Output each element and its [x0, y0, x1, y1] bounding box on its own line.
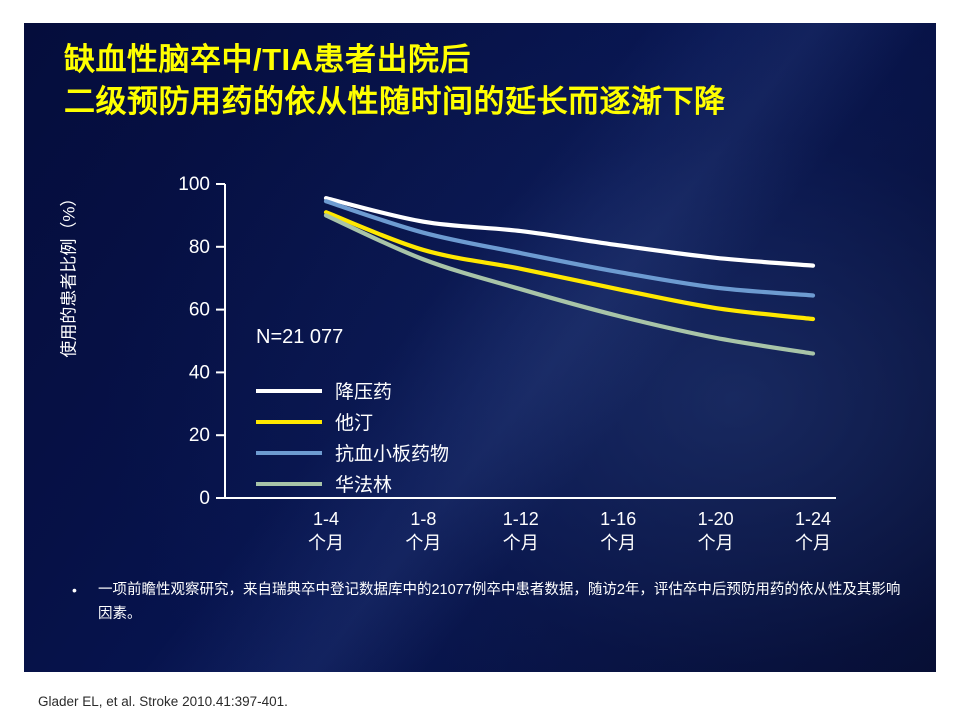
legend-item: 降压药 [256, 375, 449, 406]
x-axis-tick-label: 1-24个月 [795, 509, 831, 553]
legend-color-swatch [256, 420, 322, 424]
x-axis-tick-label: 1-12个月 [503, 509, 539, 553]
citation-reference: Glader EL, et al. Stroke 2010.41:397-401… [38, 694, 288, 709]
series-line [326, 198, 813, 266]
chart-series [326, 198, 813, 353]
sample-size-annotation: N=21 077 [256, 326, 343, 349]
legend-label: 华法林 [335, 470, 392, 497]
bullet-point: • 一项前瞻性观察研究，来自瑞典卒中登记数据库中的21077例卒中患者数据，随访… [72, 579, 902, 627]
legend-label: 他汀 [335, 408, 373, 435]
chart-x-axis-labels: 1-4个月1-8个月1-12个月1-16个月1-20个月1-24个月 [308, 509, 831, 553]
svg-text:100: 100 [178, 174, 210, 195]
svg-text:0: 0 [199, 488, 210, 509]
legend-label: 降压药 [335, 377, 392, 404]
bullet-text: 一项前瞻性观察研究，来自瑞典卒中登记数据库中的21077例卒中患者数据，随访2年… [98, 579, 902, 627]
slide-canvas: 缺血性脑卒中/TIA患者出院后 二级预防用药的依从性随时间的延长而逐渐下降 02… [24, 23, 936, 672]
legend-color-swatch [256, 482, 322, 486]
bullet-marker: • [72, 579, 98, 601]
svg-text:40: 40 [189, 362, 210, 383]
x-axis-tick-label: 1-16个月 [600, 509, 636, 553]
y-axis-title: 使用的患者比例（%） [55, 154, 80, 394]
legend-color-swatch [256, 389, 322, 393]
x-axis-tick-label: 1-20个月 [698, 509, 734, 553]
x-axis-tick-label: 1-8个月 [405, 509, 441, 553]
svg-text:60: 60 [189, 300, 210, 321]
legend-item: 华法林 [256, 468, 449, 499]
svg-text:80: 80 [189, 237, 210, 258]
legend-label: 抗血小板药物 [335, 439, 449, 466]
x-axis-tick-label: 1-4个月 [308, 509, 344, 553]
chart-legend: 降压药他汀抗血小板药物华法林 [256, 375, 449, 499]
legend-item: 抗血小板药物 [256, 437, 449, 468]
legend-color-swatch [256, 451, 322, 455]
adherence-line-chart: 020406080100 1-4个月1-8个月1-12个月1-16个月1-20个… [24, 23, 936, 672]
svg-text:20: 20 [189, 425, 210, 446]
legend-item: 他汀 [256, 406, 449, 437]
